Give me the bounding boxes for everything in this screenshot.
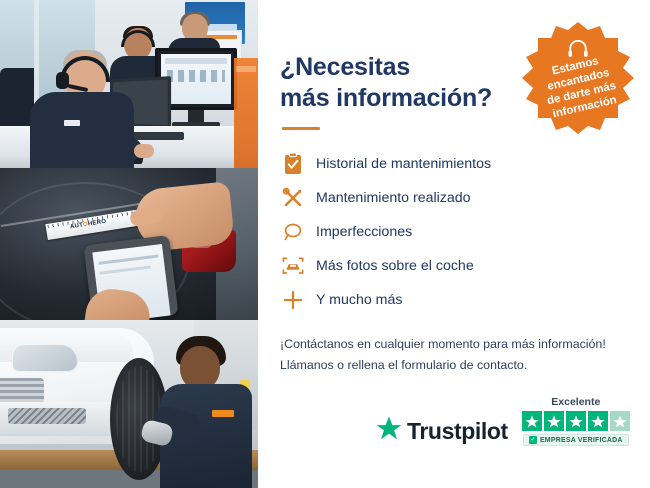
wrench-screwdriver-icon <box>280 185 306 211</box>
feature-item-more-photos: Más fotos sobre el coche <box>280 250 620 282</box>
orange-rack <box>234 58 258 168</box>
star-rating <box>522 411 630 431</box>
feature-list: Historial de mantenimientos Mantenimient… <box>280 148 620 316</box>
content-panel: ¿Necesitas más información? Historial de… <box>258 0 650 488</box>
headlamp <box>12 344 78 372</box>
star-filled <box>588 411 608 431</box>
feature-label: Más fotos sobre el coche <box>316 258 474 274</box>
verified-label: EMPRESA VERIFICADA <box>540 437 623 444</box>
call-center-agents-photo <box>0 0 258 168</box>
feature-item-maintenance-history: Historial de mantenimientos <box>280 148 620 180</box>
feature-label: Historial de mantenimientos <box>316 156 491 172</box>
feature-label: Mantenimiento realizado <box>316 190 471 206</box>
hand <box>134 144 154 158</box>
car-scan-icon <box>280 253 306 279</box>
logo-suffix: HERO <box>88 219 107 228</box>
star-half <box>610 411 630 431</box>
feature-label: Imperfecciones <box>316 224 412 240</box>
check-icon: ✓ <box>529 436 537 444</box>
feature-label: Y mucho más <box>316 292 402 308</box>
trustpilot-star-icon <box>376 416 402 446</box>
logo-prefix: AUT <box>70 222 84 230</box>
star-filled <box>522 411 542 431</box>
mechanic <box>154 332 252 488</box>
rating-label: Excelente <box>551 396 600 408</box>
damage-inspection-ruler-photo: AUTOHERO <box>0 168 258 320</box>
feature-item-maintenance-done: Mantenimiento realizado <box>280 182 620 214</box>
information-promo-card: AUTOHERO <box>0 0 650 488</box>
title-divider <box>282 127 320 130</box>
contact-line-1: ¡Contáctanos en cualquier momento para m… <box>280 334 620 355</box>
trustpilot-logo[interactable]: Trustpilot <box>376 416 508 446</box>
autohero-logo: AUTOHERO <box>70 219 107 231</box>
uniform-logo <box>212 410 234 417</box>
contact-instructions: ¡Contáctanos en cualquier momento para m… <box>280 334 620 376</box>
contact-line-2: Llámanos o rellena el formulario de cont… <box>280 355 620 376</box>
feature-item-imperfections: Imperfecciones <box>280 216 620 248</box>
status-badge: Estamos encantados de darte más informac… <box>520 20 636 136</box>
headset-icon <box>567 40 589 58</box>
mechanic-wheel-inspection-photo <box>0 320 258 488</box>
plus-icon <box>280 287 306 313</box>
document-check-icon <box>280 151 306 177</box>
front-agent <box>30 52 134 168</box>
rating-details: Excelente <box>522 396 630 446</box>
magnifier-icon <box>280 219 306 245</box>
star-filled <box>544 411 564 431</box>
torso <box>160 384 252 488</box>
verified-company-badge: ✓ EMPRESA VERIFICADA <box>523 434 629 446</box>
front-grille <box>0 378 44 404</box>
starburst-shape <box>520 20 636 136</box>
star-filled <box>566 411 586 431</box>
name-badge <box>64 120 80 126</box>
trustpilot-brand-label: Trustpilot <box>407 418 508 445</box>
trustpilot-rating[interactable]: Trustpilot Excelente <box>376 396 630 446</box>
feature-item-much-more: Y mucho más <box>280 284 620 316</box>
photo-column: AUTOHERO <box>0 0 258 488</box>
bumper-vent <box>8 408 86 424</box>
monitor-screen <box>161 54 231 104</box>
